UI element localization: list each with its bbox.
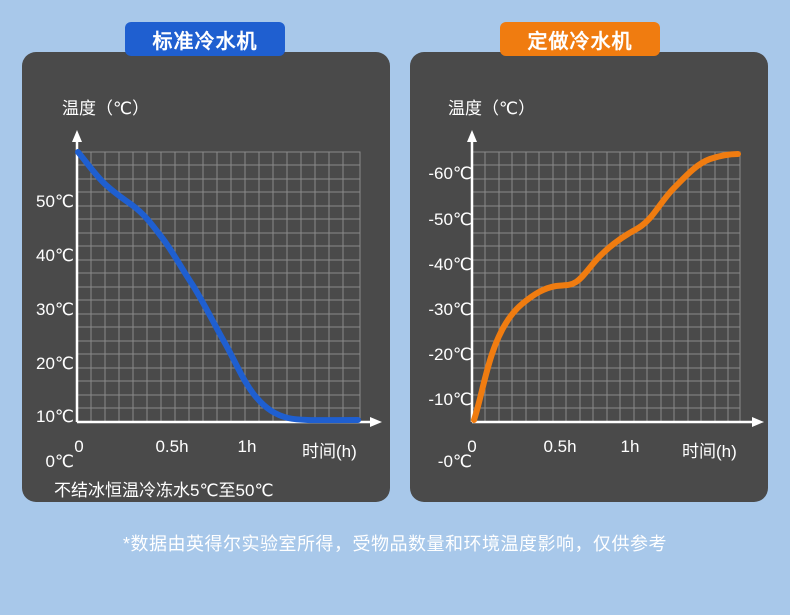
y-tick-left-4: 10℃: [24, 407, 74, 427]
tag-standard-chiller: 标准冷水机: [125, 22, 285, 56]
x-tick-right-1: 0.5h: [530, 437, 590, 457]
panel-standard-chiller: 温度（℃）: [22, 52, 390, 502]
y-tick-right-3: -30℃: [410, 300, 472, 320]
y-tick-right-2: -40℃: [410, 255, 472, 275]
y-tick-left-3: 20℃: [24, 354, 74, 374]
x-tick-left-0: 0: [67, 437, 91, 457]
panel-custom-chiller: 温度（℃）: [410, 52, 768, 502]
y-tick-right-0: -60℃: [410, 164, 472, 184]
y-tick-left-2: 30℃: [24, 300, 74, 320]
x-tick-right-0: 0: [460, 437, 484, 457]
y-tick-right-1: -50℃: [410, 210, 472, 230]
y-tick-left-1: 40℃: [24, 246, 74, 266]
tag-custom-chiller: 定做冷水机: [500, 22, 660, 56]
x-tick-left-2: 1h: [227, 437, 267, 457]
grid-right: [472, 152, 740, 422]
x-axis-label-left: 时间(h): [302, 437, 357, 462]
y-tick-right-5: -10℃: [410, 390, 472, 410]
y-tick-right-4: -20℃: [410, 345, 472, 365]
caption-left: 不结冰恒温冷冻水5℃至50℃: [54, 476, 274, 501]
x-axis-label-right: 时间(h): [682, 437, 737, 462]
charts-container: 温度（℃）: [0, 0, 790, 530]
x-tick-right-2: 1h: [610, 437, 650, 457]
x-tick-left-1: 0.5h: [142, 437, 202, 457]
y-tick-left-0: 50℃: [24, 192, 74, 212]
footnote: *数据由英得尔实验室所得，受物品数量和环境温度影响，仅供参考: [0, 530, 790, 556]
